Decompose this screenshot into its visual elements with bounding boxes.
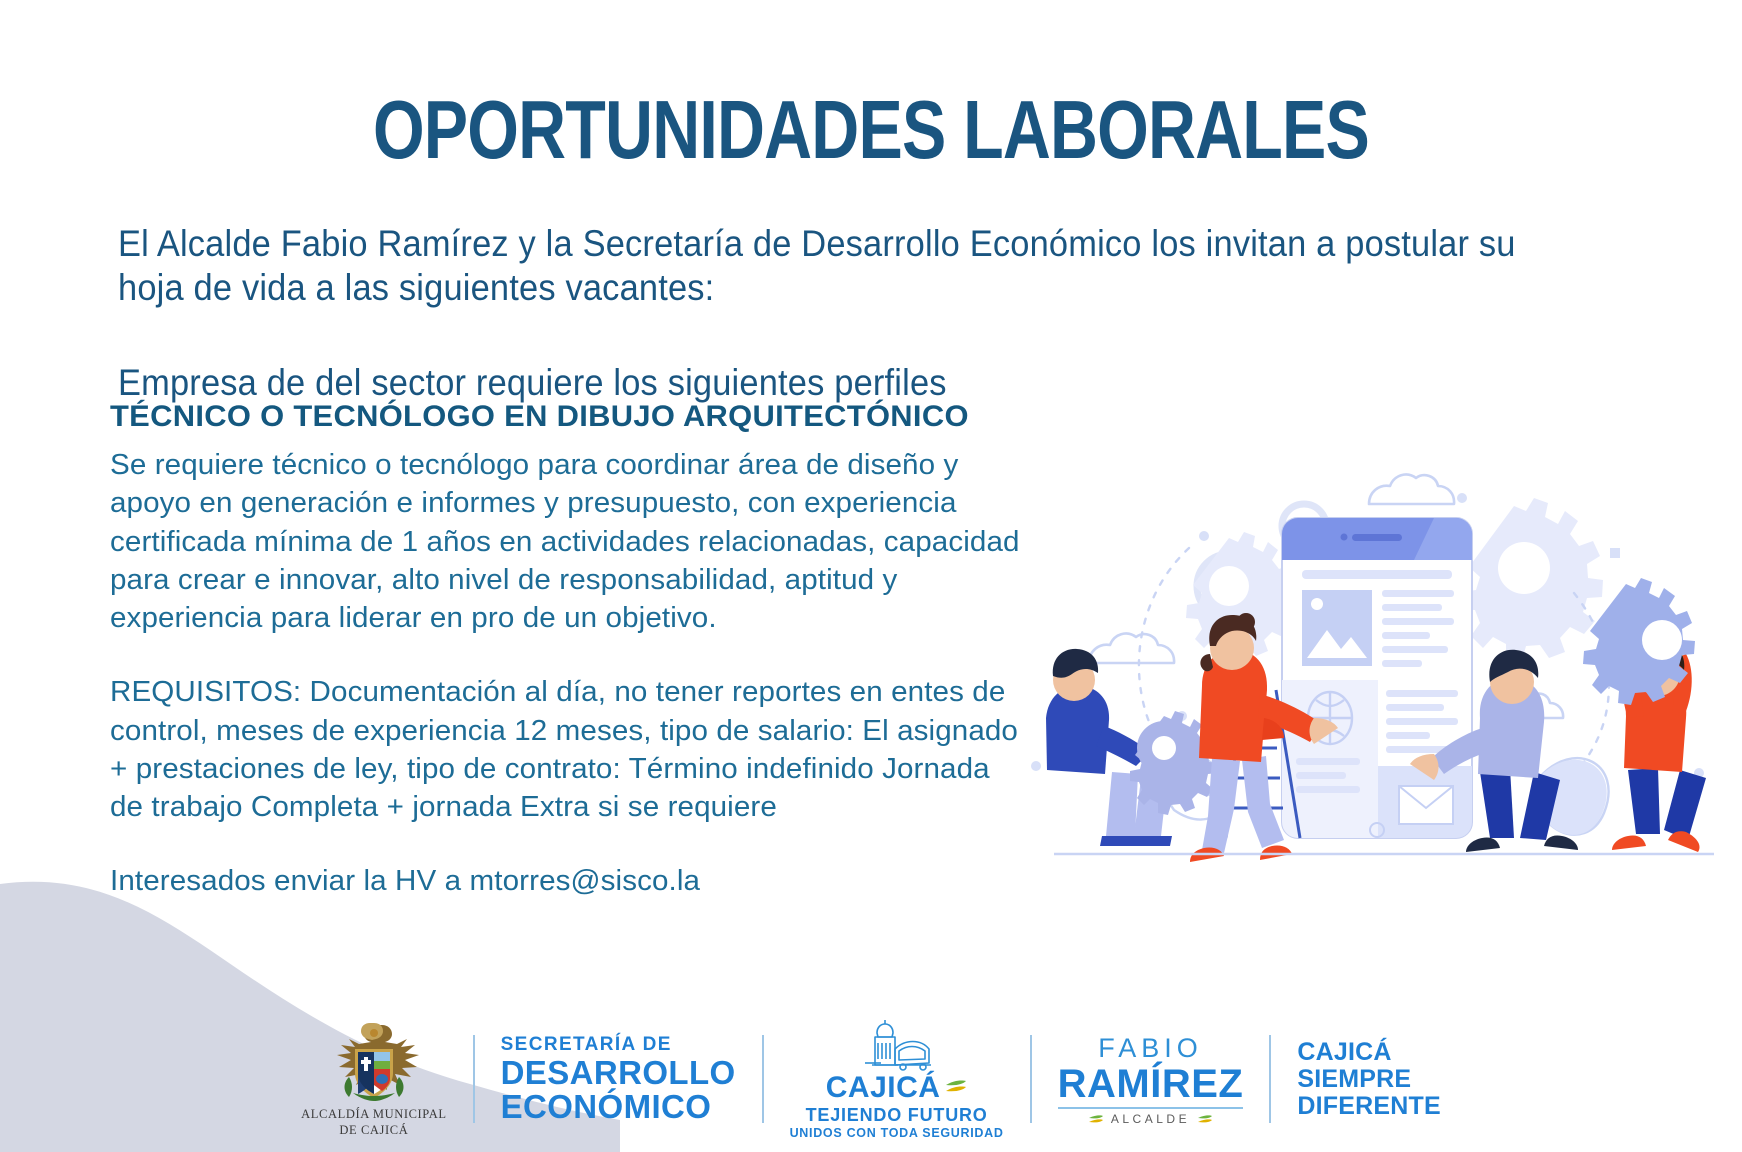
coat-of-arms-icon: [325, 1019, 423, 1103]
alcalde-role-row: ALCALDE: [1088, 1112, 1213, 1126]
slogan-line-3: DIFERENTE: [1297, 1093, 1440, 1120]
cajica-wordmark: CAJICÁ: [826, 1071, 968, 1105]
teamwork-mobile-gears-illustration: [1014, 418, 1734, 868]
job-contact-email: Interesados enviar la HV a mtorres@sisco…: [110, 862, 1028, 900]
shield-caption-line-1: ALCALDÍA MUNICIPAL: [301, 1107, 446, 1123]
slogan-line-2: SIEMPRE: [1297, 1066, 1411, 1093]
footer-logo-bar: ALCALDÍA MUNICIPAL DE CAJICÁ SECRETARÍA …: [0, 1014, 1742, 1144]
cajica-word: CAJICÁ: [826, 1071, 941, 1105]
intro-line-1: El Alcalde Fabio Ramírez y la Secretaría…: [118, 222, 1569, 309]
leaf-accent-right-icon: [1197, 1114, 1213, 1124]
cajica-subtitle-1: TEJIENDO FUTURO: [806, 1105, 988, 1126]
shield-caption: ALCALDÍA MUNICIPAL DE CAJICÁ: [301, 1107, 446, 1138]
job-requirements: REQUISITOS: Documentación al día, no ten…: [110, 673, 1028, 826]
logo-alcaldia-cajica: ALCALDÍA MUNICIPAL DE CAJICÁ: [275, 1019, 472, 1138]
job-description: Se requiere técnico o tecnólogo para coo…: [110, 446, 1028, 637]
slogan-line-1: CAJICÁ: [1297, 1039, 1391, 1066]
job-posting-block: TÉCNICO O TECNÓLOGO EN DIBUJO ARQUITECTÓ…: [110, 400, 1010, 901]
intro-line-2: Empresa de del sector requiere los sigui…: [118, 361, 1569, 405]
secretaria-line-1: DESARROLLO: [501, 1056, 736, 1090]
logo-cajica-tejiendo-futuro: CAJICÁ TEJIENDO FUTURO UNIDOS CON TODA S…: [764, 1019, 1030, 1140]
shield-caption-line-2: DE CAJICÁ: [301, 1123, 446, 1139]
cajica-subtitle-2: UNIDOS CON TODA SEGURIDAD: [790, 1126, 1004, 1140]
alcalde-last-name: RAMÍREZ: [1058, 1064, 1244, 1104]
page-title: OPORTUNIDADES LABORALES: [174, 88, 1568, 171]
alcalde-first-name: FABIO: [1098, 1033, 1203, 1064]
alcalde-role-label: ALCALDE: [1111, 1112, 1190, 1126]
intro-block: El Alcalde Fabio Ramírez y la Secretaría…: [118, 222, 1678, 405]
logo-secretaria-desarrollo-economico: SECRETARÍA DE DESARROLLO ECONÓMICO: [475, 1034, 762, 1123]
logo-fabio-ramirez-alcalde: FABIO RAMÍREZ ALCALDE: [1032, 1033, 1270, 1126]
secretaria-line-2: ECONÓMICO: [501, 1090, 712, 1124]
job-title: TÉCNICO O TECNÓLOGO EN DIBUJO ARQUITECTÓ…: [110, 400, 1037, 434]
logo-cajica-siempre-diferente: CAJICÁ SIEMPRE DIFERENTE: [1271, 1039, 1466, 1120]
alcalde-rule: [1058, 1107, 1244, 1109]
secretaria-top-label: SECRETARÍA DE: [501, 1034, 672, 1056]
leaf-accent-left-icon: [1088, 1114, 1104, 1124]
leaf-accent-icon: [945, 1078, 967, 1098]
cajica-church-icon: [845, 1019, 949, 1071]
